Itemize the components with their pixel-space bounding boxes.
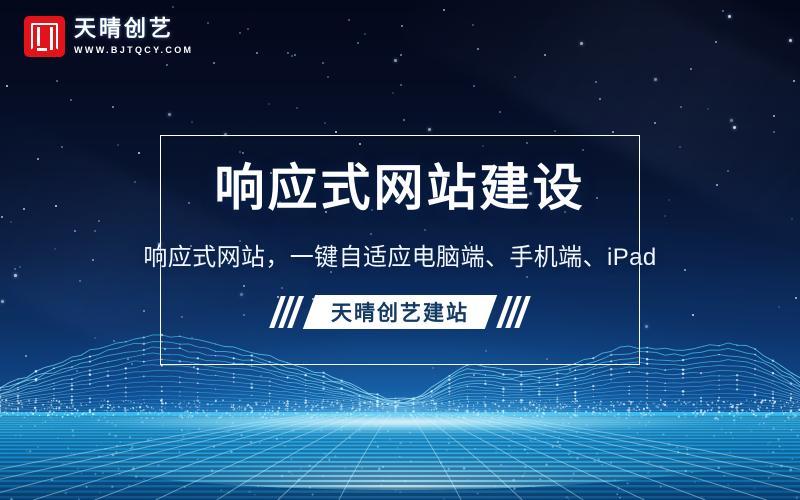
star (335, 131, 337, 133)
brand-logo[interactable]: 天晴创艺 WWW.BJTQCY.COM (24, 16, 193, 57)
star (392, 92, 394, 94)
star (256, 52, 258, 54)
star (294, 54, 296, 56)
star (291, 55, 293, 57)
tqcy-logo-mark-icon (24, 16, 65, 57)
star (166, 64, 168, 66)
star (92, 259, 94, 261)
star (728, 15, 731, 18)
star (400, 54, 402, 56)
star (74, 230, 76, 232)
star (668, 199, 670, 201)
star (499, 111, 501, 113)
star (403, 119, 405, 121)
star (733, 126, 736, 129)
star (554, 130, 556, 132)
star (54, 248, 56, 250)
star (268, 103, 270, 105)
star (789, 39, 792, 42)
star (773, 131, 775, 133)
star (599, 98, 601, 100)
star (10, 221, 12, 223)
star (364, 33, 366, 35)
star (472, 24, 474, 26)
star (707, 108, 709, 110)
star (61, 146, 63, 148)
star (37, 158, 39, 160)
star (730, 119, 733, 122)
star (94, 230, 96, 232)
star (715, 41, 717, 43)
hero-frame (160, 135, 640, 365)
star (664, 215, 666, 217)
star (716, 184, 718, 186)
star (322, 62, 324, 64)
star (654, 78, 657, 81)
star (327, 76, 329, 78)
brand-name-cn: 天晴创艺 (74, 17, 193, 42)
star (690, 68, 692, 70)
star (56, 80, 58, 82)
star (287, 52, 289, 54)
star (207, 22, 209, 24)
star (544, 54, 546, 56)
star (55, 205, 57, 207)
star (296, 107, 298, 109)
star (477, 48, 479, 50)
star (401, 25, 403, 27)
star (98, 220, 100, 222)
star (394, 59, 397, 62)
star (191, 121, 193, 123)
star (168, 113, 171, 116)
star (23, 208, 25, 210)
star (1, 216, 3, 218)
star (138, 152, 140, 154)
brand-website: WWW.BJTQCY.COM (74, 44, 193, 56)
star (112, 106, 114, 108)
star (654, 122, 656, 124)
hero-banner: 天晴创艺 WWW.BJTQCY.COM 响应式网站建设 响应式网站，一键自适应电… (0, 0, 800, 500)
star (172, 6, 174, 8)
star (473, 85, 475, 87)
star (357, 42, 359, 44)
star (14, 268, 16, 270)
star (612, 131, 614, 133)
star (791, 218, 793, 220)
star (773, 115, 775, 117)
star (6, 85, 8, 87)
star (247, 28, 249, 30)
brand-logo-text: 天晴创艺 WWW.BJTQCY.COM (74, 17, 193, 56)
star (400, 84, 402, 86)
star (793, 80, 795, 82)
star (514, 76, 516, 78)
star (19, 266, 21, 268)
star (213, 62, 215, 64)
star (684, 269, 686, 271)
star (324, 122, 326, 124)
star (70, 99, 72, 101)
star (443, 9, 445, 11)
star (680, 106, 682, 108)
star (679, 146, 681, 148)
star (428, 128, 431, 131)
star (117, 144, 119, 146)
star (722, 10, 724, 12)
star (134, 181, 136, 183)
star (727, 170, 729, 172)
star (580, 42, 583, 45)
star (348, 19, 350, 21)
star (595, 81, 597, 83)
star (14, 274, 17, 277)
star (239, 32, 241, 34)
